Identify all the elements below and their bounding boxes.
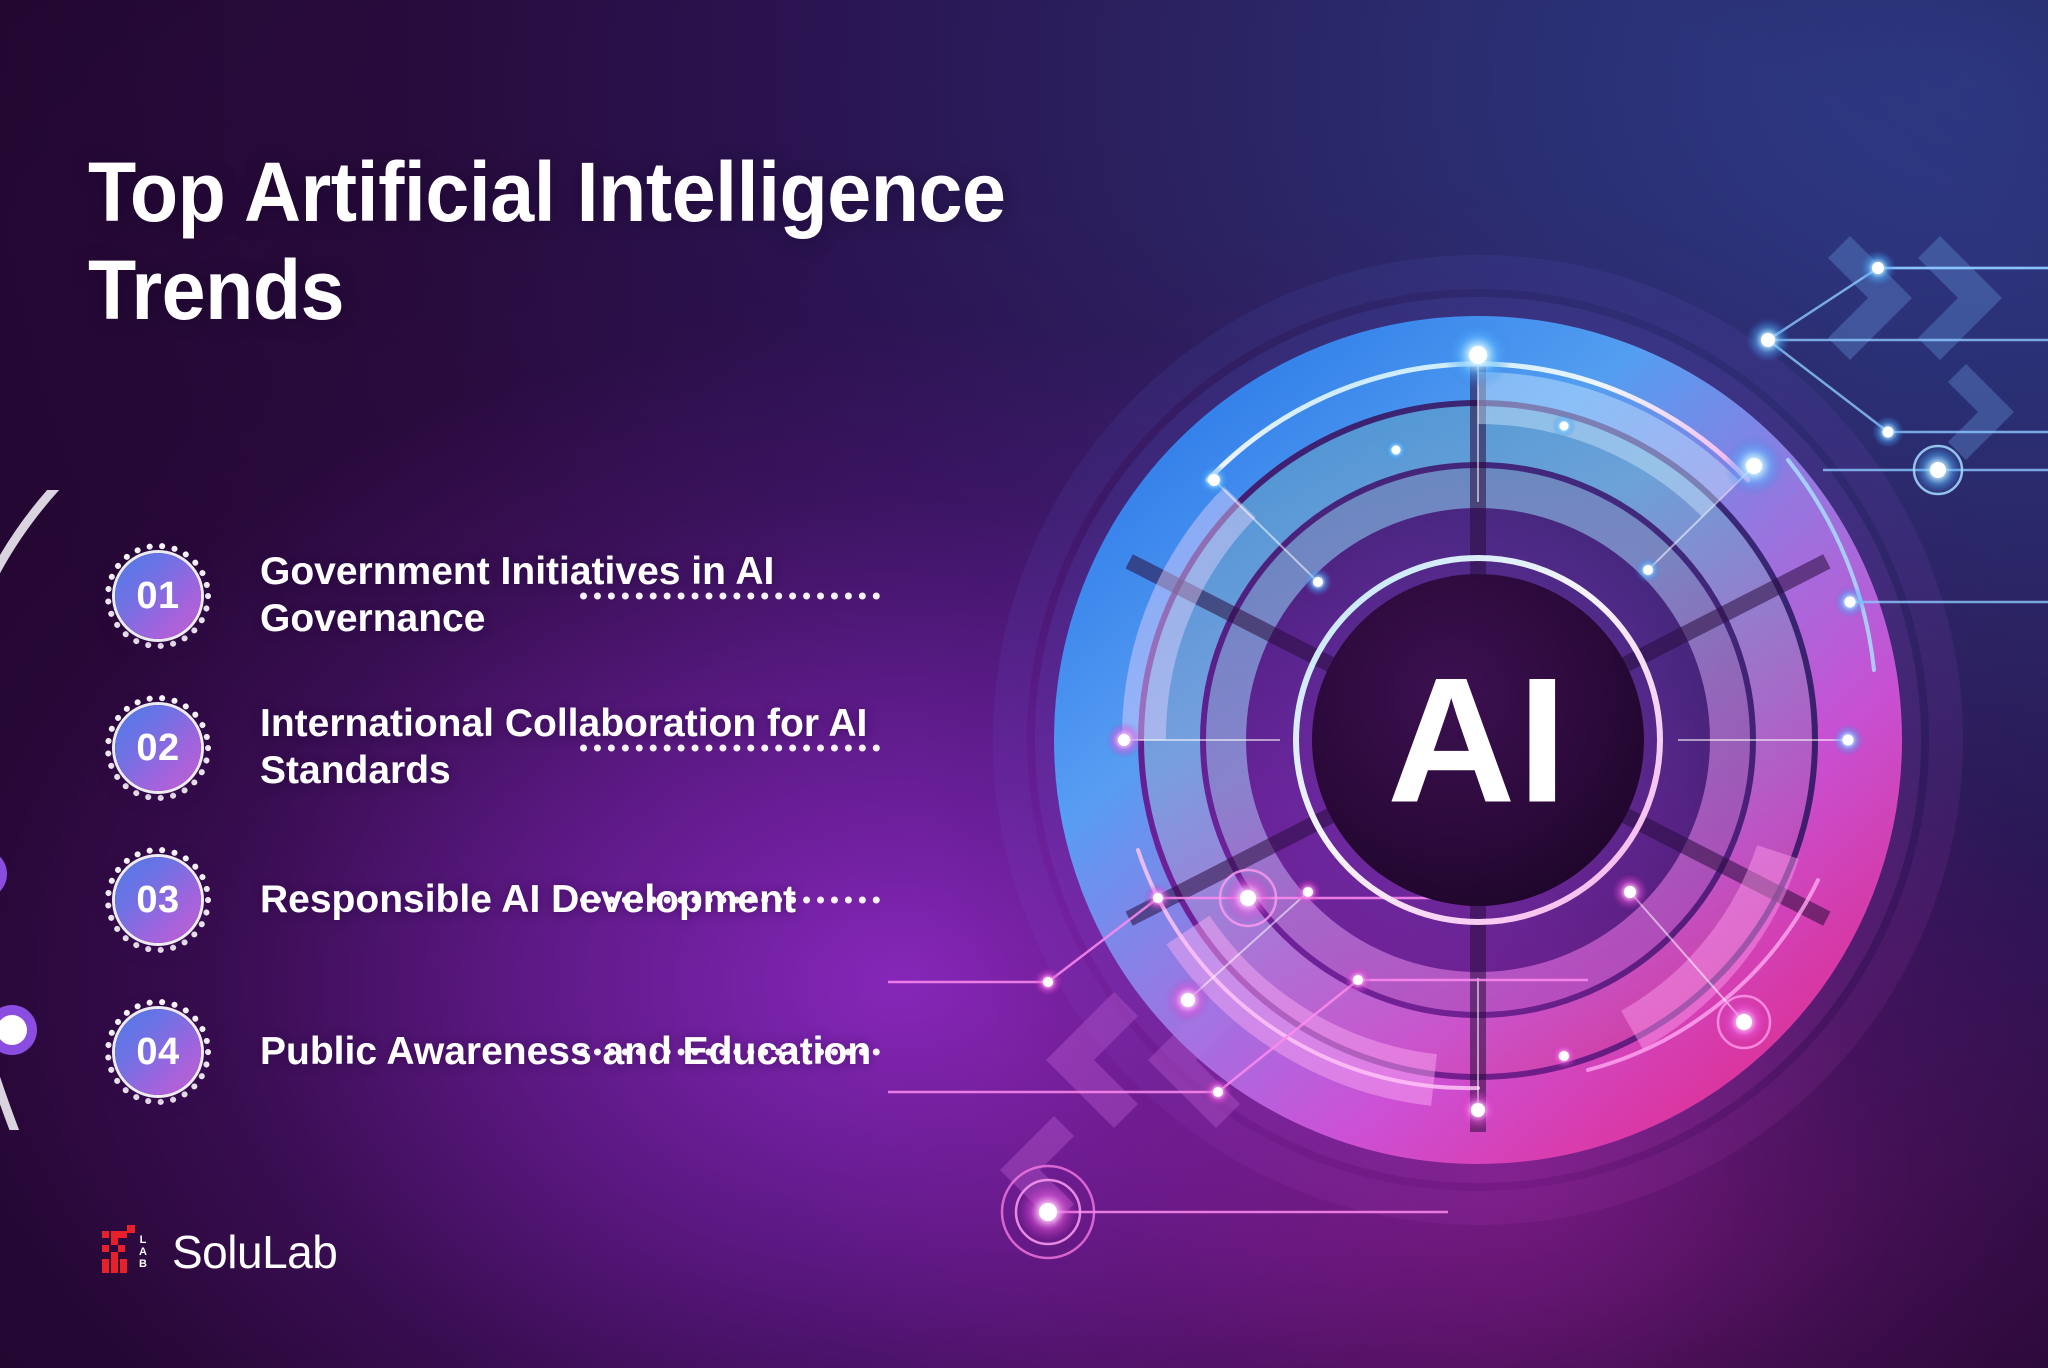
dotted-connector-line [580,745,880,752]
brand-name: SoluLab [172,1225,337,1279]
badge-circle: 02 [115,705,201,791]
list-item[interactable]: 03 Responsible AI Development [104,824,984,976]
page-title: Top Artificial Intelligence Trends [88,144,1310,339]
list-item[interactable]: 01 Government Initiatives in AI Governan… [104,520,984,672]
svg-text:A: A [139,1246,147,1258]
page-title-line-2: Trends [88,243,344,337]
trend-badge[interactable]: 03 [104,846,212,954]
badge-circle: 03 [115,857,201,943]
infographic-canvas: AI Top Artificial Intelligence Trends [0,0,2048,1368]
trend-badge[interactable]: 02 [104,694,212,802]
badge-number: 02 [136,727,179,770]
badge-circle: 01 [115,553,201,639]
solulab-qr-mark-icon: L A B [102,1225,156,1279]
trend-badge[interactable]: 04 [104,998,212,1106]
page-title-line-1: Top Artificial Intelligence [88,145,1005,239]
trend-badge[interactable]: 01 [104,542,212,650]
badge-number: 01 [136,575,179,618]
svg-text:L: L [140,1234,147,1246]
badge-number: 03 [136,879,179,922]
brand-logo[interactable]: L A B SoluLab [102,1225,337,1279]
list-item[interactable]: 04 Public Awareness and Education [104,976,984,1128]
trend-list: 01 Government Initiatives in AI Governan… [104,520,984,1128]
badge-number: 04 [136,1031,179,1074]
dotted-connector-line [580,1049,880,1056]
svg-text:B: B [139,1258,147,1270]
badge-circle: 04 [115,1009,201,1095]
dotted-connector-line [580,897,880,904]
list-item[interactable]: 02 International Collaboration for AI St… [104,672,984,824]
dotted-connector-line [580,593,880,600]
